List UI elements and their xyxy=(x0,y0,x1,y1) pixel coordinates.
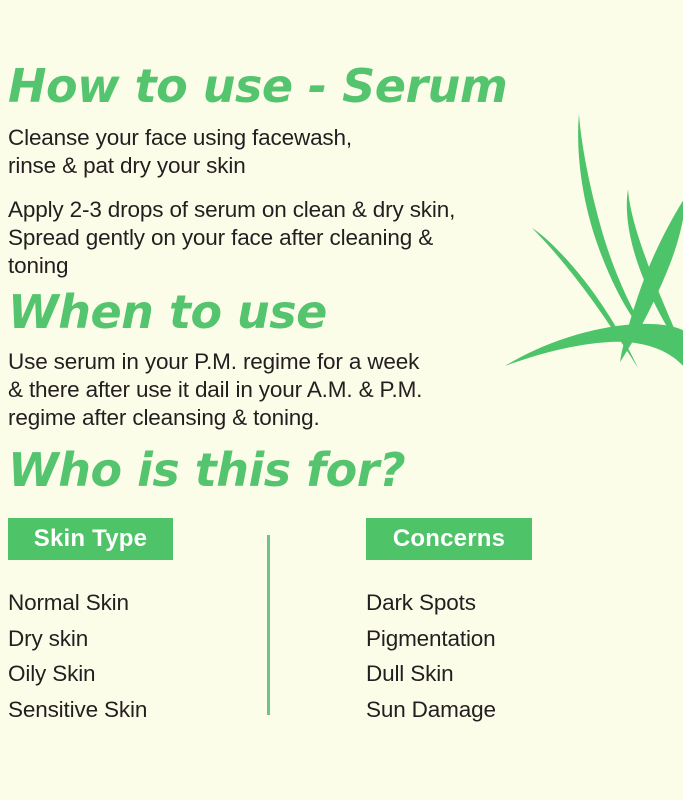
list-item: Dry skin xyxy=(8,621,147,657)
who-is-this-for-heading: Who is this for? xyxy=(8,447,405,493)
concerns-list: Dark Spots Pigmentation Dull Skin Sun Da… xyxy=(366,585,496,727)
list-item: Normal Skin xyxy=(8,585,147,621)
list-item: Oily Skin xyxy=(8,656,147,692)
skin-type-badge: Skin Type xyxy=(8,518,173,560)
when-to-use-paragraph: Use serum in your P.M. regime for a week… xyxy=(8,348,422,432)
skin-type-list: Normal Skin Dry skin Oily Skin Sensitive… xyxy=(8,585,147,727)
list-item: Dark Spots xyxy=(366,585,496,621)
list-item: Sensitive Skin xyxy=(8,692,147,728)
when-to-use-heading: When to use xyxy=(8,289,327,335)
concerns-badge: Concerns xyxy=(366,518,532,560)
column-divider xyxy=(267,535,270,715)
how-to-use-paragraph-2: Apply 2-3 drops of serum on clean & dry … xyxy=(8,196,455,280)
page-title: How to use - Serum xyxy=(8,63,507,109)
list-item: Sun Damage xyxy=(366,692,496,728)
how-to-use-serum-poster: How to use - Serum Cleanse your face usi… xyxy=(0,0,683,800)
list-item: Dull Skin xyxy=(366,656,496,692)
list-item: Pigmentation xyxy=(366,621,496,657)
how-to-use-paragraph-1: Cleanse your face using facewash, rinse … xyxy=(8,124,352,180)
leaf-cluster-icon xyxy=(480,100,683,375)
